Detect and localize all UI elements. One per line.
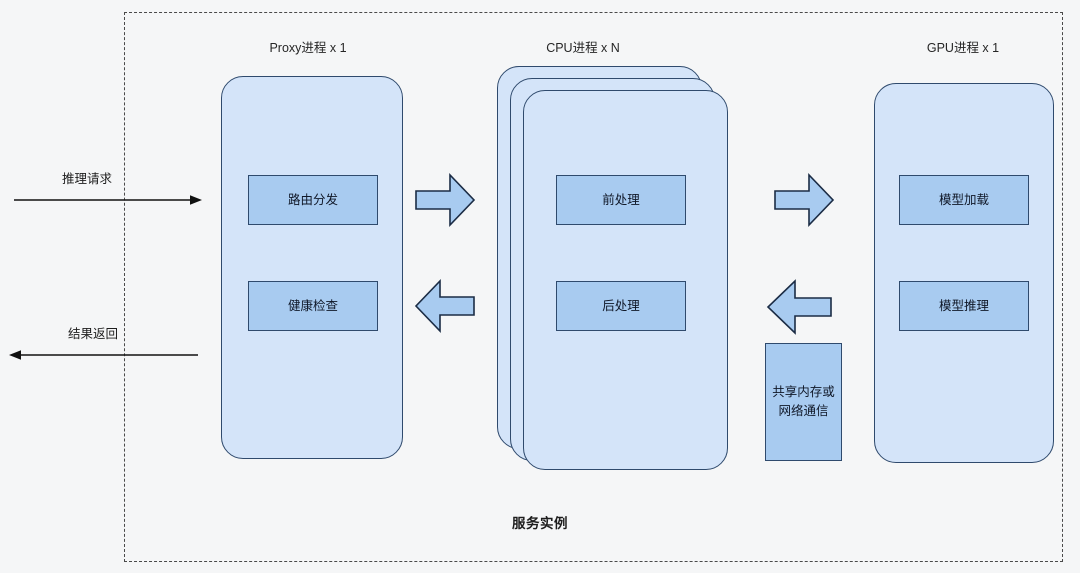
proxy-box-health-check[interactable]: 健康检查: [248, 281, 378, 331]
cpu-box-postprocess[interactable]: 后处理: [556, 281, 686, 331]
inference-request-label: 推理请求: [62, 168, 112, 187]
proxy-box-routing[interactable]: 路由分发: [248, 175, 378, 225]
result-return-label: 结果返回: [68, 323, 118, 342]
arrow-cpu-to-proxy: [414, 278, 476, 334]
inference-request-arrow: [14, 190, 204, 210]
gpu-process-caption: GPU进程 x 1: [888, 37, 1038, 56]
shared-memory-line-2: 网络通信: [778, 402, 828, 421]
gpu-box-model-load[interactable]: 模型加载: [899, 175, 1029, 225]
arrow-cpu-to-gpu: [773, 172, 835, 228]
shared-memory-line-1: 共享内存或: [772, 383, 835, 402]
service-instance-label: 服务实例: [0, 512, 1080, 532]
shared-memory-box[interactable]: 共享内存或 网络通信: [765, 343, 842, 461]
diagram-canvas: 服务实例 Proxy进程 x 1 路由分发 健康检查 CPU进程 x N 前处理…: [0, 0, 1080, 573]
gpu-box-model-inference[interactable]: 模型推理: [899, 281, 1029, 331]
gpu-process-card[interactable]: [874, 83, 1054, 463]
cpu-process-caption: CPU进程 x N: [508, 37, 658, 56]
result-return-arrow: [8, 345, 198, 365]
arrow-gpu-to-cpu: [765, 277, 833, 337]
proxy-process-caption: Proxy进程 x 1: [233, 37, 383, 56]
arrow-proxy-to-cpu: [414, 172, 476, 228]
proxy-process-card[interactable]: [221, 76, 403, 459]
cpu-box-preprocess[interactable]: 前处理: [556, 175, 686, 225]
cpu-process-card-front[interactable]: [523, 90, 728, 470]
